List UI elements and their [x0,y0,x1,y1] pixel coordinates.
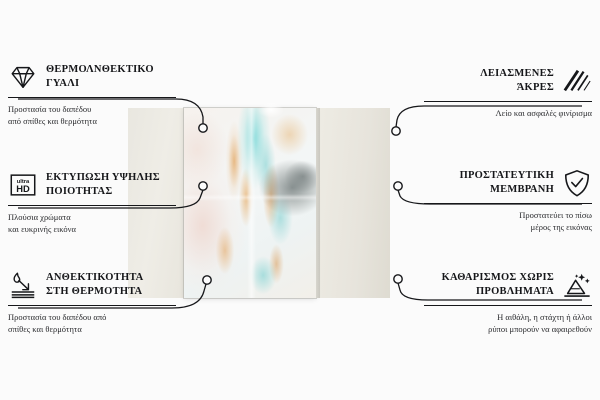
feature-high-quality-print: ultra HD ΕΚΤΥΠΩΣΗ ΥΨΗΛΗΣ ΠΟΙΟΤΗΤΑΣ Πλούσ… [8,170,208,236]
feature-subtitle: Προστασία του δαπέδου από σπίθες και θερ… [8,311,208,336]
subtitle-line: Προστασία του δαπέδου από [8,311,208,323]
polished-edges-icon [562,66,592,96]
feature-easy-cleaning: ΚΑΘΑΡΙΣΜΟΣ ΧΩΡΙΣ ΠΡΟΒΛΗΜΑΤΑ Η αιθάλη, η … [392,270,592,336]
feature-header: ΠΡΟΣΤΑΤΕΥΤΙΚΗ ΜΕΜΒΡΑΝΗ [392,168,592,198]
divider [424,101,592,102]
title-line: ΚΑΘΑΡΙΣΜΟΣ ΧΩΡΙΣ [442,271,554,285]
subtitle-line: σπίθες και θερμότητα [8,323,208,335]
subtitle-line: Λείο και ασφαλές φινίρισμα [392,107,592,119]
feature-header: ΘΕΡΜΟΛΝΘΕΚΤΙΚΟ ΓΥΑΛΙ [8,62,208,92]
feature-polished-edges: ΛΕΙΑΣΜΕΝΕΣ ΆΚΡΕΣ Λείο και ασφαλές φινίρι… [392,66,592,119]
title-line: ΑΝΘΕΚΤΙΚΟΤΗΤΑ [46,271,143,285]
flame-heat-resistance-icon [8,270,38,300]
feature-header: ΚΑΘΑΡΙΣΜΟΣ ΧΩΡΙΣ ΠΡΟΒΛΗΜΑΤΑ [392,270,592,300]
feature-title: ΠΡΟΣΤΑΤΕΥΤΙΚΗ ΜΕΜΒΡΑΝΗ [460,169,554,197]
feature-title: ΛΕΙΑΣΜΕΝΕΣ ΆΚΡΕΣ [480,67,554,95]
feature-title: ΘΕΡΜΟΛΝΘΕΚΤΙΚΟ ΓΥΑΛΙ [46,63,154,91]
feature-header: ultra HD ΕΚΤΥΠΩΣΗ ΥΨΗΛΗΣ ΠΟΙΟΤΗΤΑΣ [8,170,208,200]
subtitle-line: Πλούσια χρώματα [8,211,208,223]
subtitle-line: Η αιθάλη, η στάχτη ή άλλοι [392,311,592,323]
title-line: ΠΟΙΟΤΗΤΑΣ [46,185,160,199]
connector-dot-right-1 [392,127,400,135]
title-line: ΓΥΑΛΙ [46,77,154,91]
feature-heat-durability: ΑΝΘΕΚΤΙΚΟΤΗΤΑ ΣΤΗ ΘΕΡΜΟΤΗΤΑ Προστασία το… [8,270,208,336]
title-line: ΆΚΡΕΣ [480,81,554,95]
subtitle-line: Προστατεύει το πίσω [392,209,592,221]
title-line: ΠΡΟΣΤΑΤΕΥΤΙΚΗ [460,169,554,183]
subtitle-line: μέρος της εικόνας [392,221,592,233]
title-line: ΣΤΗ ΘΕΡΜΟΤΗΤΑ [46,285,143,299]
divider [8,305,176,306]
title-line: ΜΕΜΒΡΑΝΗ [460,183,554,197]
feature-protective-membrane: ΠΡΟΣΤΑΤΕΥΤΙΚΗ ΜΕΜΒΡΑΝΗ Προστατεύει το πί… [392,168,592,234]
divider [424,203,592,204]
feature-subtitle: Προστατεύει το πίσω μέρος της εικόνας [392,209,592,234]
feature-subtitle: Λείο και ασφαλές φινίρισμα [392,107,592,119]
subtitle-line: Προστασία του δαπέδου [8,103,208,115]
subtitle-line: και ευκρινής εικόνα [8,223,208,235]
feature-title: ΑΝΘΕΚΤΙΚΟΤΗΤΑ ΣΤΗ ΘΕΡΜΟΤΗΤΑ [46,271,143,299]
feature-subtitle: Προστασία του δαπέδου από σπίθες και θερ… [8,103,208,128]
title-line: ΕΚΤΥΠΩΣΗ ΥΨΗΛΗΣ [46,171,160,185]
feature-header: ΑΝΘΕΚΤΙΚΟΤΗΤΑ ΣΤΗ ΘΕΡΜΟΤΗΤΑ [8,270,208,300]
feature-title: ΚΑΘΑΡΙΣΜΟΣ ΧΩΡΙΣ ΠΡΟΒΛΗΜΑΤΑ [442,271,554,299]
shield-check-icon [562,168,592,198]
badge-large-label: HD [16,184,30,194]
feature-subtitle: Η αιθάλη, η στάχτη ή άλλοι ρύποι μπορούν… [392,311,592,336]
divider [8,205,176,206]
feature-title: ΕΚΤΥΠΩΣΗ ΥΨΗΛΗΣ ΠΟΙΟΤΗΤΑΣ [46,171,160,199]
title-line: ΠΡΟΒΛΗΜΑΤΑ [442,285,554,299]
title-line: ΘΕΡΜΟΛΝΘΕΚΤΙΚΟ [46,63,154,77]
divider [8,97,176,98]
subtitle-line: από σπίθες και θερμότητα [8,115,208,127]
easy-clean-sparkle-icon [562,270,592,300]
title-line: ΛΕΙΑΣΜΕΝΕΣ [480,67,554,81]
divider [424,305,592,306]
feature-header: ΛΕΙΑΣΜΕΝΕΣ ΆΚΡΕΣ [392,66,592,96]
ultra-hd-badge-icon: ultra HD [8,170,38,200]
subtitle-line: ρύποι μπορούν να αφαιρεθούν [392,323,592,335]
feature-subtitle: Πλούσια χρώματα και ευκρινής εικόνα [8,211,208,236]
infographic-canvas: ΘΕΡΜΟΛΝΘΕΚΤΙΚΟ ΓΥΑΛΙ Προστασία του δαπέδ… [0,0,600,400]
diamond-icon [8,62,38,92]
feature-heat-resistant-glass: ΘΕΡΜΟΛΝΘΕΚΤΙΚΟ ΓΥΑΛΙ Προστασία του δαπέδ… [8,62,208,128]
